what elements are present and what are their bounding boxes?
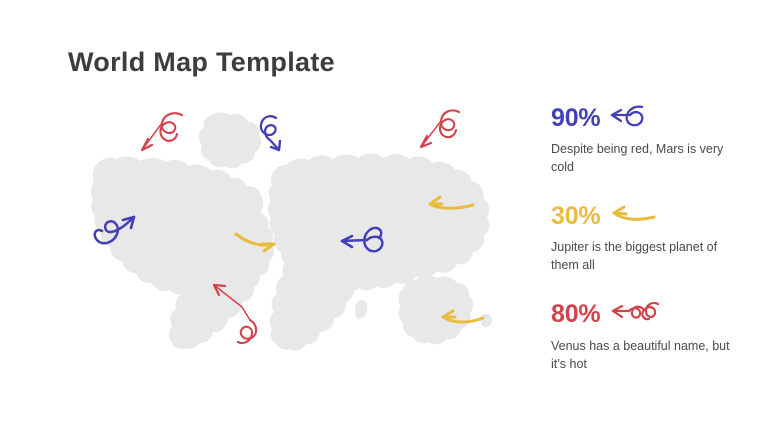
island-new-zealand [480,314,492,328]
marker-greenland-blue [261,116,280,150]
stat-description: Jupiter is the biggest planet of them al… [551,238,731,274]
marker-russia-red [421,110,459,147]
stat-description: Venus has a beautiful name, but it’s hot [551,337,731,373]
curly-arrow-left-icon [608,103,654,134]
island-uk [284,192,296,206]
continent-australia [399,276,474,345]
stat-description: Despite being red, Mars is very cold [551,140,731,176]
stat-header: 90% [551,103,751,133]
stat-value: 80% [551,302,600,327]
arrow-left-icon [608,203,658,230]
island-madagascar [355,300,367,319]
page-title: World Map Template [68,48,335,78]
double-loop-arrow-left-icon [608,299,662,330]
stat-value: 30% [551,204,600,229]
stat-item: 80% Venus has a beautiful name, but it’s… [551,300,751,373]
continent-greenland [199,113,261,169]
marker-north-america-red [142,113,182,150]
stat-header: 30% [551,201,751,231]
stats-list: 90% Despite being red, Mars is very cold… [551,103,751,398]
stat-item: 90% Despite being red, Mars is very cold [551,103,751,176]
stat-value: 90% [551,106,600,131]
map-continents-group [91,113,492,351]
world-map [90,105,520,350]
stat-item: 30% Jupiter is the biggest planet of the… [551,201,751,274]
slide-canvas: World Map Template [0,0,783,440]
stat-header: 80% [551,300,751,330]
